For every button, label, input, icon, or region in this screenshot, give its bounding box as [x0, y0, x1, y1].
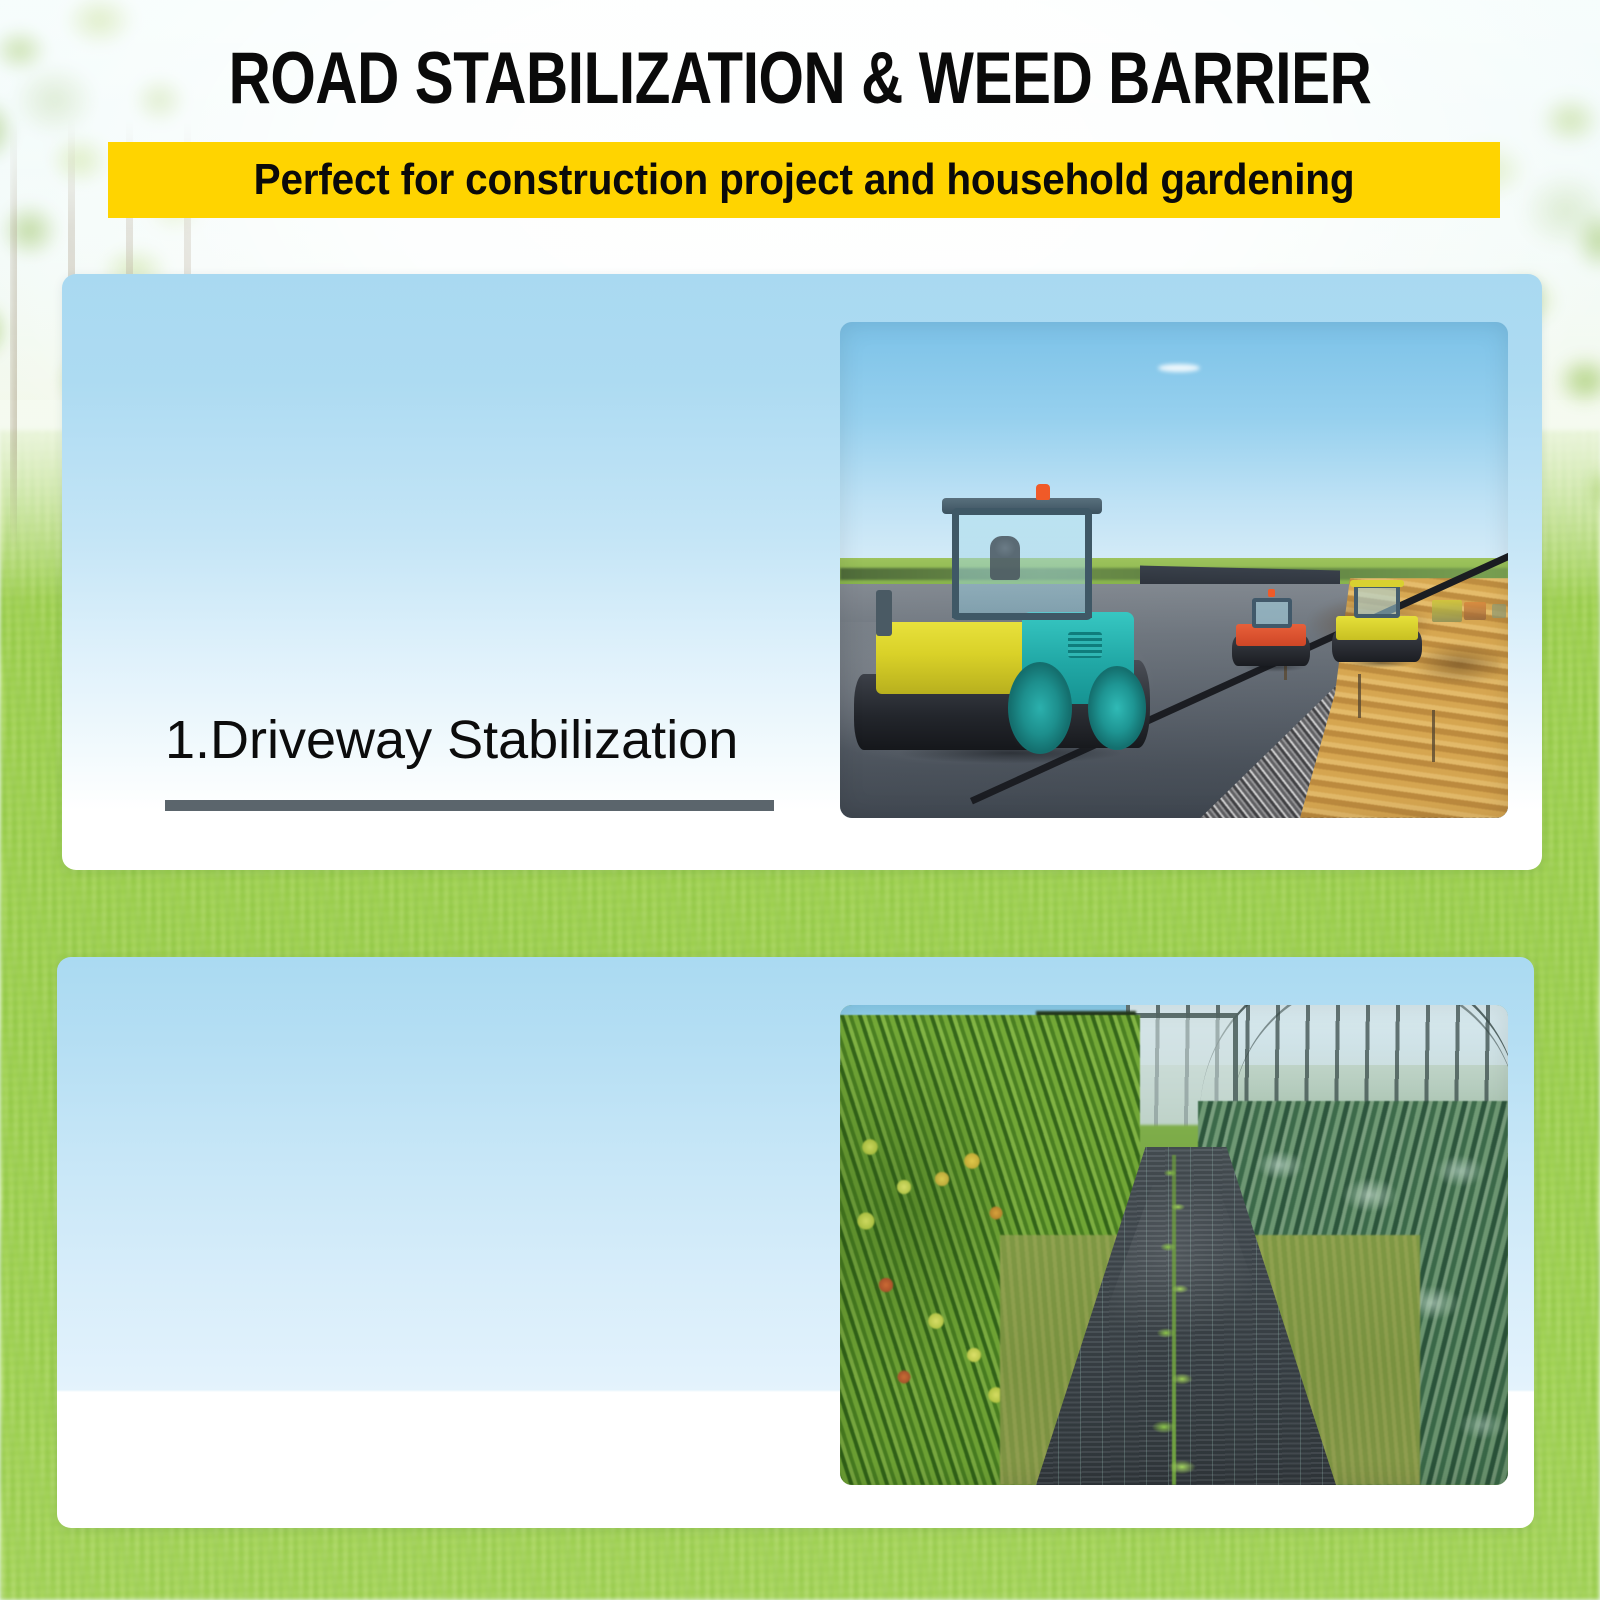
page-title: ROAD STABILIZATION & WEED BARRIER: [160, 40, 1440, 118]
photo1-main-roller-beacon: [1036, 484, 1050, 500]
photo1-main-roller-cab: [952, 508, 1092, 620]
feature-heading-1: 1.Driveway Stabilization: [165, 711, 738, 769]
feature-heading-rule-1: [165, 800, 774, 811]
photo1-yellow-roller-cab: [1354, 584, 1400, 618]
photo1-yellow-roller-roof: [1350, 580, 1404, 587]
photo1-distant-machine: [1432, 600, 1462, 622]
photo1-distant-machine: [1492, 604, 1506, 618]
feature-image-weed-control: [840, 1005, 1508, 1485]
photo1-red-roller-cab: [1252, 598, 1292, 628]
photo1-main-roller-vent: [1068, 632, 1102, 658]
subtitle-text: Perfect for construction project and hou…: [164, 142, 1445, 218]
photo1-red-roller-beacon: [1268, 589, 1275, 597]
photo1-cab-post: [1085, 512, 1092, 618]
photo1-distant-machine: [1464, 602, 1486, 620]
photo1-main-roller-wheel: [1088, 666, 1146, 750]
photo1-cloud: [1158, 364, 1200, 372]
photo1-operator: [990, 536, 1020, 580]
photo2-seedlings: [1142, 1155, 1212, 1485]
photo1-red-roller: [1230, 594, 1314, 672]
photo1-main-roller-wheel: [1008, 662, 1072, 754]
photo1-yellow-roller: [1330, 580, 1426, 672]
feature-image-driveway-stabilization: [840, 322, 1508, 818]
photo1-yellow-roller-body: [1336, 616, 1418, 640]
photo1-survey-stake: [1358, 674, 1361, 718]
subtitle-banner: Perfect for construction project and hou…: [108, 142, 1500, 218]
photo1-survey-stake: [1432, 710, 1435, 762]
photo1-main-roller-arm: [876, 590, 892, 636]
photo1-sky: [840, 322, 1508, 574]
infographic-canvas: ROAD STABILIZATION & WEED BARRIER Perfec…: [0, 0, 1600, 1600]
photo1-cab-post: [952, 512, 959, 618]
